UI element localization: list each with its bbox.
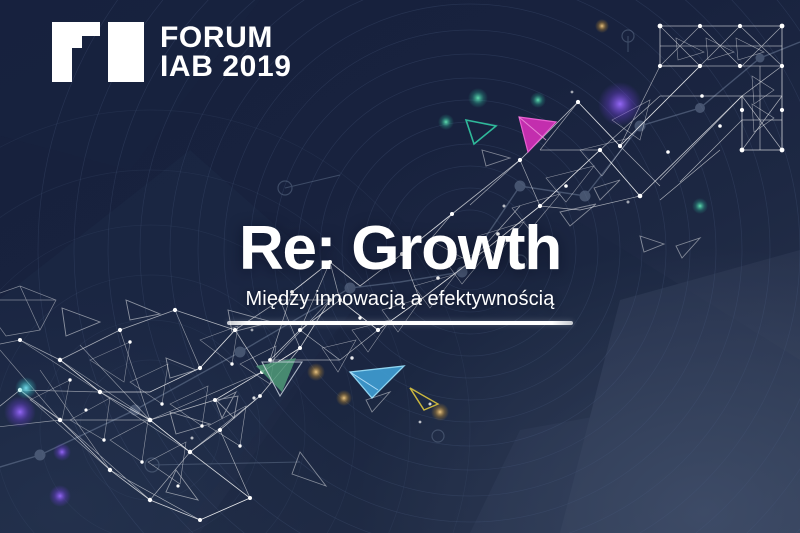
logo-line-forum: FORUM (160, 23, 292, 52)
forum-iab-mark-icon (52, 22, 144, 82)
forum-iab-logo: FORUM IAB 2019 (52, 22, 292, 82)
logo-wordmark: FORUM IAB 2019 (160, 23, 292, 82)
logo-line-iab-year: IAB 2019 (160, 52, 292, 81)
page-title: Re: Growth (0, 218, 800, 280)
poster-canvas: FORUM IAB 2019 Re: Growth Między innowac… (0, 0, 800, 533)
page-subtitle: Między innowacją a efektywnością (0, 288, 800, 311)
headline-block: Re: Growth Między innowacją a efektywnoś… (0, 218, 800, 325)
headline-divider (227, 321, 573, 325)
accent-magenta-triangle (519, 117, 556, 152)
purple-glow-accent (598, 82, 642, 126)
